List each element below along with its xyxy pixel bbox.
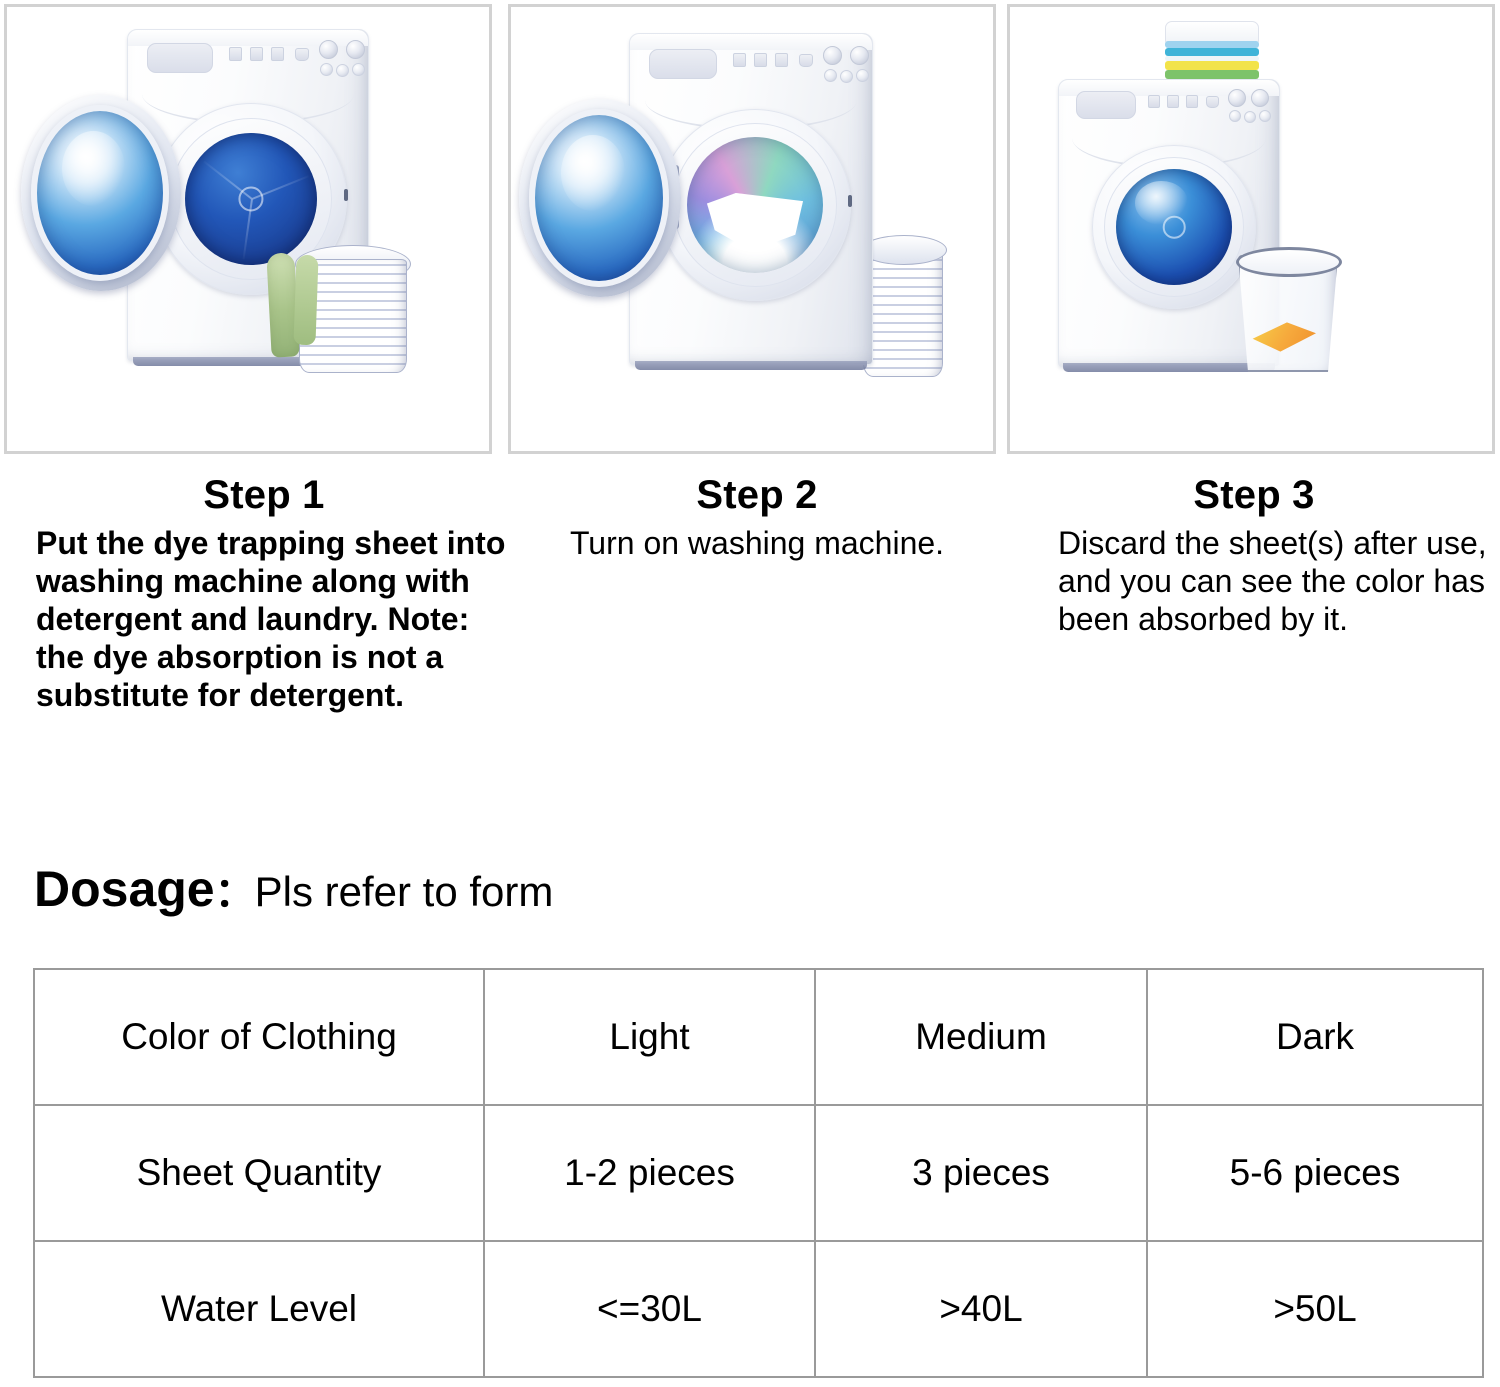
cell-sheet-quantity-dark: 5-6 pieces (1147, 1105, 1483, 1241)
dosage-table: Color of Clothing Light Medium Dark Shee… (33, 968, 1484, 1378)
header-dark: Dark (1147, 969, 1483, 1105)
program-knob-left (319, 40, 338, 59)
step-3-caption: Step 3 Discard the sheet(s) after use, a… (1010, 470, 1498, 638)
table-header-row: Color of Clothing Light Medium Dark (34, 969, 1483, 1105)
program-button-4 (799, 54, 813, 67)
step-3-illustration-panel (1007, 4, 1495, 454)
trash-bin-rim (1236, 247, 1342, 277)
step-3-body: Discard the sheet(s) after use, and you … (1010, 520, 1498, 638)
stack-layer-lightblue (1165, 41, 1259, 48)
washing-machine-running-scene (511, 7, 993, 451)
table-row: Water Level <=30L >40L >50L (34, 1241, 1483, 1377)
stack-layer-yellow (1165, 61, 1259, 70)
program-button-3 (271, 47, 284, 61)
open-door-glass (529, 109, 669, 287)
row-label-sheet-quantity: Sheet Quantity (34, 1105, 484, 1241)
option-knob-3 (1259, 110, 1271, 122)
cell-sheet-quantity-light: 1-2 pieces (484, 1105, 815, 1241)
door-latch (344, 189, 348, 201)
program-knob-left (1228, 89, 1246, 107)
option-knob-2 (840, 70, 853, 83)
cell-water-level-medium: >40L (815, 1241, 1147, 1377)
steps-illustration-row (0, 0, 1500, 458)
row-label-water-level: Water Level (34, 1241, 484, 1377)
drum-hub (1163, 216, 1186, 239)
option-knob-1 (320, 63, 333, 76)
dosage-colon: ： (215, 871, 255, 915)
program-button-2 (250, 47, 263, 61)
step-1-illustration-panel (4, 4, 492, 454)
dosage-note: Pls refer to form (255, 868, 554, 915)
program-button-2 (754, 53, 767, 67)
dosage-heading: Dosage：Pls refer to form (34, 860, 553, 922)
cell-sheet-quantity-medium: 3 pieces (815, 1105, 1147, 1241)
step-1-caption: Step 1 Put the dye trapping sheet into w… (14, 470, 514, 714)
step-3-title: Step 3 (1010, 470, 1498, 520)
option-knob-2 (336, 64, 349, 77)
cell-water-level-light: <=30L (484, 1241, 815, 1377)
washing-machine-closed-scene (1010, 7, 1492, 451)
step-1-title: Step 1 (14, 470, 514, 520)
basket-rim-behind (861, 235, 947, 265)
step-2-caption: Step 2 Turn on washing machine. (512, 470, 1002, 562)
door-glass-highlight (62, 131, 125, 206)
door-latch (848, 195, 852, 207)
control-display (649, 49, 717, 79)
closed-door-glass (1116, 169, 1232, 285)
program-button-3 (775, 53, 788, 67)
stack-layer-white (1165, 21, 1259, 43)
program-knob-right (850, 46, 869, 65)
step-2-title: Step 2 (512, 470, 1002, 520)
open-door-glass (31, 105, 169, 281)
table-row: Sheet Quantity 1-2 pieces 3 pieces 5-6 p… (34, 1105, 1483, 1241)
header-medium: Medium (815, 969, 1147, 1105)
drum-interior (185, 133, 317, 265)
door-glass-highlight (561, 135, 625, 211)
program-button-1 (229, 47, 242, 61)
control-display (1076, 91, 1136, 119)
program-button-4 (1206, 96, 1219, 108)
option-knob-3 (352, 63, 365, 76)
program-knob-left (823, 46, 842, 65)
program-button-1 (733, 53, 746, 67)
program-button-2 (1167, 95, 1179, 108)
green-towel-second-fold (293, 255, 318, 346)
program-knob-right (1251, 89, 1269, 107)
program-knob-right (346, 40, 365, 59)
washing-machine-open-door-scene (7, 7, 489, 451)
cell-water-level-dark: >50L (1147, 1241, 1483, 1377)
header-color-of-clothing: Color of Clothing (34, 969, 484, 1105)
step-2-illustration-panel (508, 4, 996, 454)
step-2-body: Turn on washing machine. (512, 520, 1002, 562)
dosage-label: Dosage (34, 861, 215, 917)
laundry-basket-behind-machine (863, 247, 943, 377)
option-knob-1 (1229, 110, 1241, 122)
step-1-body: Put the dye trapping sheet into washing … (14, 520, 514, 714)
option-knob-3 (856, 69, 869, 82)
program-button-3 (1186, 95, 1198, 108)
program-button-4 (295, 48, 309, 61)
option-knob-2 (1244, 111, 1256, 123)
drum-hub (238, 186, 263, 211)
option-knob-1 (824, 69, 837, 82)
header-light: Light (484, 969, 815, 1105)
stack-layer-cyan (1165, 48, 1259, 56)
program-button-1 (1148, 95, 1160, 108)
stack-layer-green (1165, 70, 1259, 79)
control-display (147, 43, 213, 73)
